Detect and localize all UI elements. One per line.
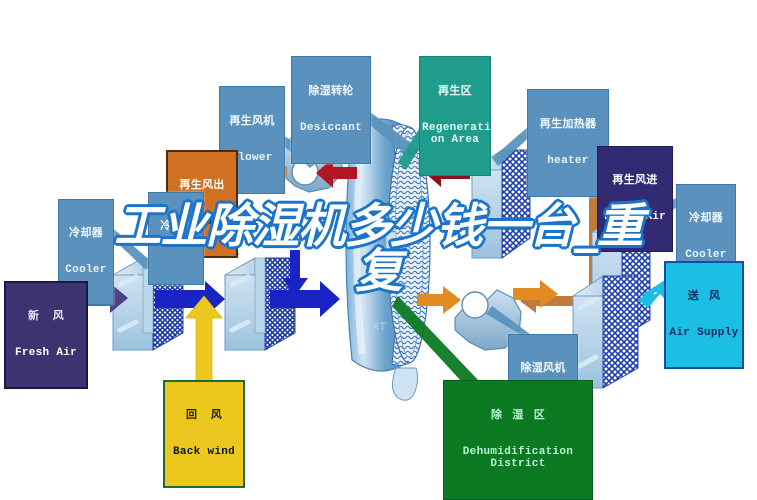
label-dehumidification-district: 除 湿 区 Dehumidification District [443,380,593,500]
label-cooler-left-1-cn: 冷却器 [61,227,111,239]
label-regeneration-area-cn: 再生区 [422,85,488,97]
label-cooler-left-1-en: Cooler [61,264,111,276]
label-back-wind-en: Back wind [167,446,241,458]
label-regen-fresh-air: 再生风进 Fresh Air [597,146,673,252]
label-desiccant-wheel-en: Desiccant [294,122,368,134]
label-air-supply-cn: 送 风 [668,290,740,302]
label-back-wind: 回 风 Back wind [163,380,245,488]
svg-text:XT: XT [372,321,386,333]
label-desiccant-wheel-cn: 除湿转轮 [294,85,368,97]
label-regen-fresh-air-cn: 再生风进 [600,174,670,186]
return-air-arrow [186,296,222,382]
label-regen-heater-cn: 再生加热器 [530,118,606,130]
label-regen-blower-cn: 再生风机 [222,115,282,127]
supply-coil-block [573,276,638,388]
label-fresh-air-intake-en: Fresh Air [8,347,84,359]
label-regeneration-area: 再生区 Regenerati on Area [419,56,491,176]
label-cooler-left-2: 冷却器 [148,192,204,285]
label-fresh-air-intake-cn: 新 风 [8,310,84,322]
label-cooler-right-en: Cooler [679,249,733,261]
label-dehumidification-district-en: Dehumidification District [446,446,590,471]
diagram-canvas: XT [0,0,757,488]
label-fresh-air-intake: 新 风 Fresh Air [4,281,88,389]
label-exhaust-cn: 再生风出 [170,179,234,191]
label-dehum-blower-cn: 除湿风机 [511,362,575,374]
label-desiccant-wheel: 除湿转轮 Desiccant [291,56,371,164]
label-air-supply-en: Air Supply [668,327,740,339]
label-regeneration-area-en: Regenerati on Area [422,122,488,147]
label-cooler-left-2-cn: 冷却器 [151,220,201,232]
label-air-supply: 送 风 Air Supply [664,261,744,369]
label-back-wind-cn: 回 风 [167,409,241,421]
label-regen-heater-en: heater [530,155,606,167]
label-regen-fresh-air-en: Fresh Air [600,211,670,223]
label-cooler-right-cn: 冷却器 [679,212,733,224]
label-dehumidification-district-cn: 除 湿 区 [446,409,590,421]
